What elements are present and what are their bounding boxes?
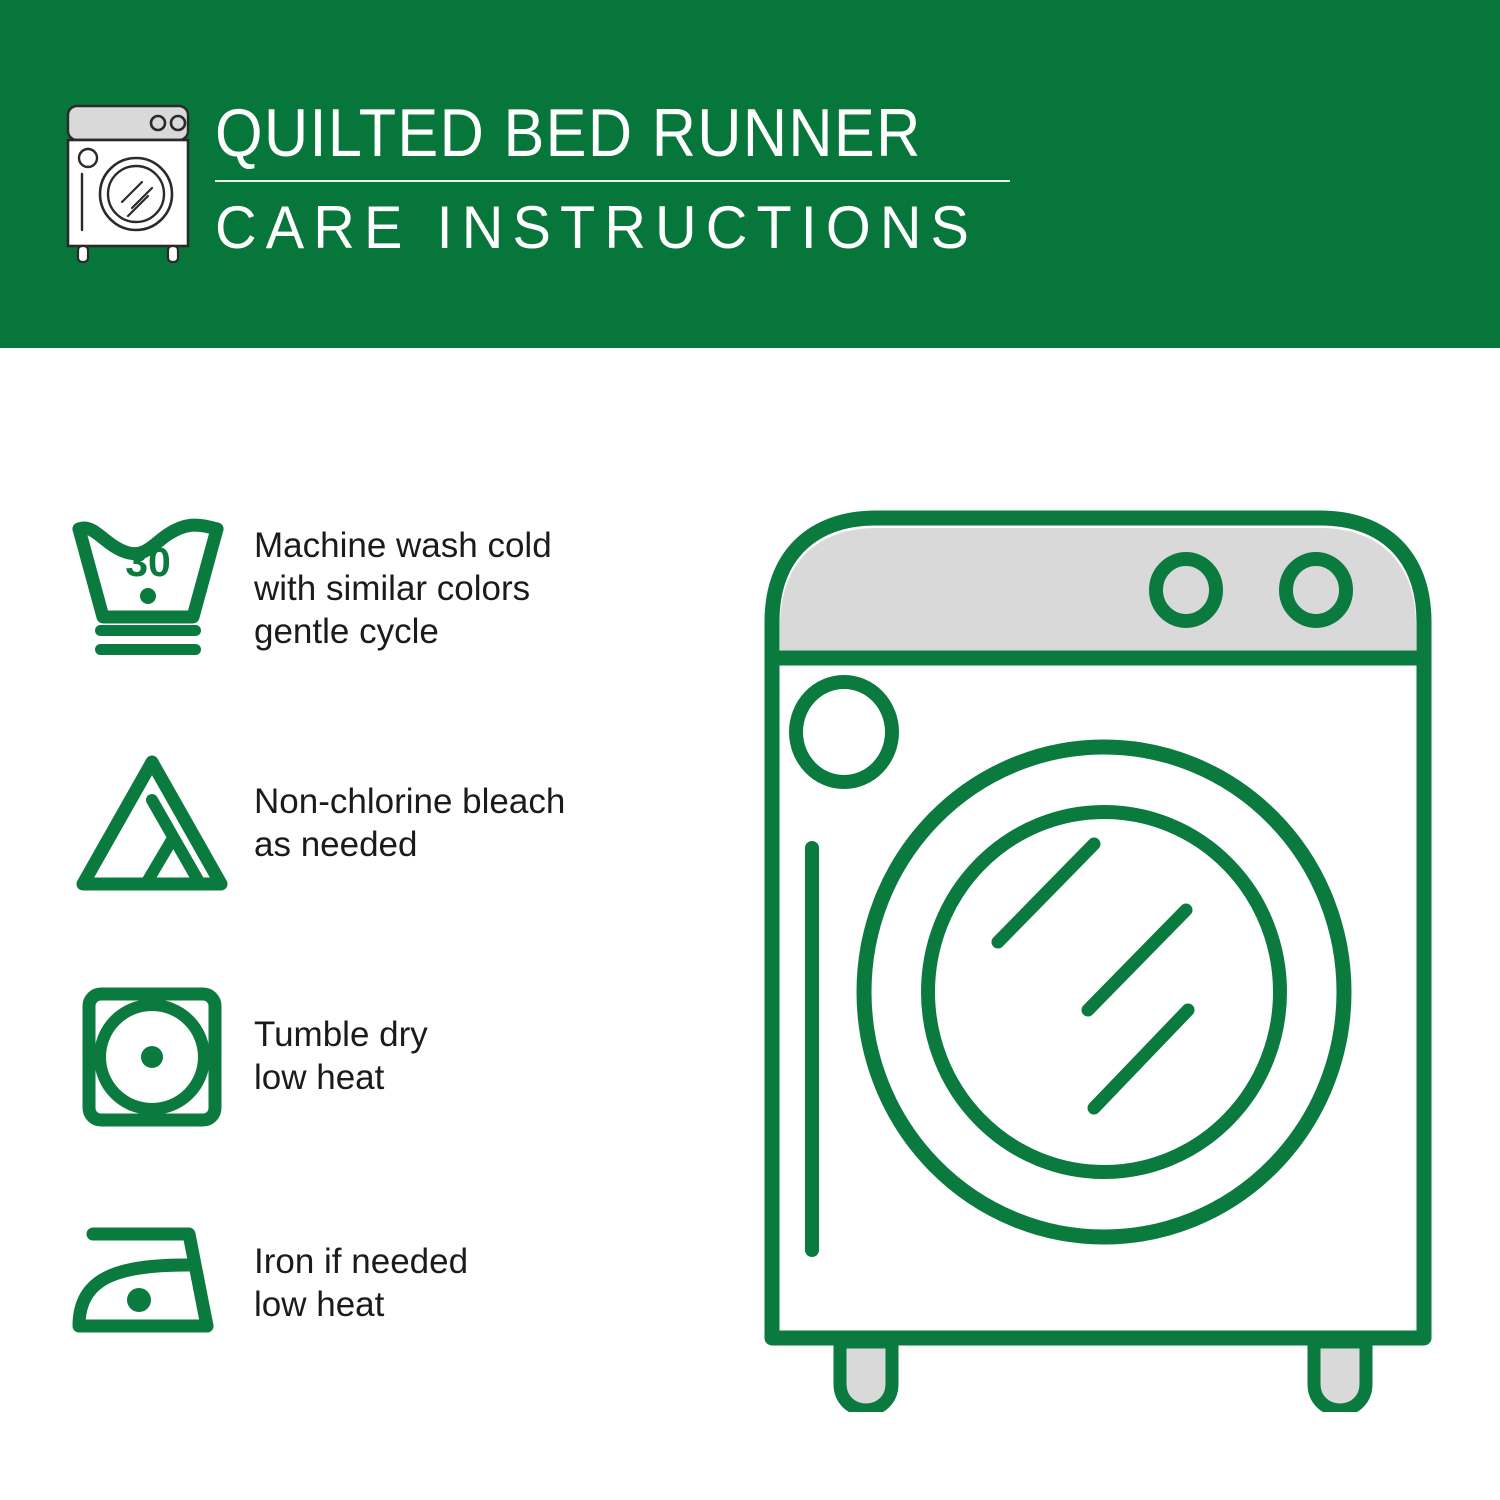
page-title: QUILTED BED RUNNER xyxy=(215,96,944,170)
washing-machine-icon xyxy=(62,104,194,266)
header-banner: QUILTED BED RUNNER CARE INSTRUCTIONS xyxy=(0,0,1500,348)
care-instruction-list: 30 Machine wash cold with similar colors… xyxy=(0,348,700,1500)
svg-text:30: 30 xyxy=(125,539,171,585)
care-instruction-row: Non-chlorine bleach as needed xyxy=(0,733,700,913)
header-divider xyxy=(215,180,1010,182)
care-instruction-label: Non-chlorine bleach as needed xyxy=(254,780,565,866)
care-instruction-label: Iron if needed low heat xyxy=(254,1240,468,1326)
page-subtitle: CARE INSTRUCTIONS xyxy=(215,194,993,262)
care-instruction-row: 30 Machine wash cold with similar colors… xyxy=(0,498,700,678)
non-chlorine-bleach-triangle-icon xyxy=(62,733,242,913)
care-instruction-label: Tumble dry low heat xyxy=(254,1013,428,1099)
header-text-block: QUILTED BED RUNNER CARE INSTRUCTIONS xyxy=(215,96,1025,262)
care-instruction-label: Machine wash cold with similar colors ge… xyxy=(254,524,552,653)
care-instruction-row: Iron if needed low heat xyxy=(0,1193,700,1373)
tumble-dry-low-heat-icon xyxy=(62,966,242,1146)
front-load-washing-machine-illustration xyxy=(736,492,1460,1412)
wash-tub-30-gentle-icon: 30 xyxy=(62,498,242,678)
iron-low-heat-icon xyxy=(62,1193,242,1373)
care-instruction-row: Tumble dry low heat xyxy=(0,966,700,1146)
